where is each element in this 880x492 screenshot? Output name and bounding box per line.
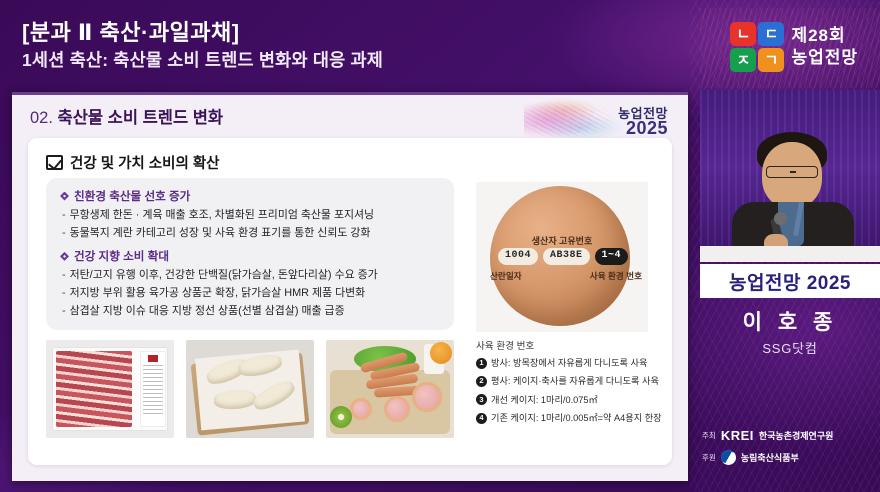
slide-canvas: 02. 축산물 소비 트렌드 변화 농업전망 2025 건강 및 가치 소비의 … xyxy=(12,92,688,481)
egg-code-pills: 1004 AB38E 1~4 xyxy=(488,248,638,265)
egg-producer-code-label: 생산자 고유번호 xyxy=(476,234,648,247)
dash-marker: - xyxy=(62,287,66,299)
session-track-title: [분과 Ⅱ 축산·과일과채] xyxy=(22,20,662,46)
glasses-icon xyxy=(766,166,818,178)
bullet-group: 건강 지향 소비 확대 -저탄/고지 유행 이후, 건강한 단백질(닭가슴살, … xyxy=(60,248,442,320)
bullet-group: 친환경 축산물 선호 증가 -무항생제 한돈 · 계육 매출 호조, 차별화된 … xyxy=(60,188,442,242)
slide-content-card: 건강 및 가치 소비의 확산 친환경 축산물 선호 증가 -무항생제 한돈 · … xyxy=(28,138,672,465)
host-tag: 주최 xyxy=(702,430,716,441)
egg-pill-housing-code: 1~4 xyxy=(595,248,629,265)
slide-top-rule xyxy=(12,92,688,95)
sponsor-footer: 주최 KREI 한국농촌경제연구원 후원 농림축산식품부 xyxy=(702,428,878,472)
slide-number: 02. xyxy=(30,109,53,127)
slide-title-text: 축산물 소비 트렌드 변화 xyxy=(58,109,224,127)
microphone-icon xyxy=(774,212,787,225)
egg-pill-lay-date: 1004 xyxy=(498,248,538,265)
presentation-screen: [분과 Ⅱ 축산·과일과채] 1세션 축산: 축산물 소비 트렌드 변화와 대응… xyxy=(0,0,880,492)
egg-marking-figure: 생산자 고유번호 1004 AB38E 1~4 산란일자 사육 환경 번호 사육… xyxy=(468,178,656,450)
bullet-item: -동물복지 계란 카테고리 성장 및 사육 환경 표기를 통한 신뢰도 강화 xyxy=(60,225,442,243)
speaker-organization: SSG닷컴 xyxy=(700,338,880,357)
egg-lay-date-label: 산란일자 xyxy=(490,270,522,282)
event-banner: 농업전망 2025 xyxy=(700,264,880,298)
event-name-label: 농업전망 xyxy=(791,48,858,68)
bullet-item: -저탄/고지 유행 이후, 건강한 단백질(닭가슴살, 돈앞다리살) 수요 증가 xyxy=(60,267,442,285)
bullet-group-title-text: 건강 지향 소비 확대 xyxy=(74,248,169,264)
logo-square-1: ㄴ xyxy=(730,22,756,46)
legend-number-badge: 2 xyxy=(476,376,487,387)
photo-sausage-ham-platter xyxy=(326,340,454,438)
ham-slice xyxy=(384,396,410,422)
logo-square-4: ㄱ xyxy=(758,48,784,72)
supporter-tag: 후원 xyxy=(702,452,716,463)
bullet-item-text: 무항생제 한돈 · 계육 매출 호조, 차별화된 프리미엄 축산물 포지셔닝 xyxy=(70,209,374,221)
host-name: 한국농촌경제연구원 xyxy=(759,429,834,442)
dash-marker: - xyxy=(62,209,66,221)
housing-code-legend: 사육 환경 번호 1 방사: 방목장에서 자유롭게 다니도록 사육 2 평사: … xyxy=(476,338,656,431)
diamond-bullet-icon xyxy=(60,192,69,201)
pork-product-label xyxy=(140,351,166,427)
legend-item: 1 방사: 방목장에서 자유롭게 다니도록 사육 xyxy=(476,357,656,369)
bullet-item: -무항생제 한돈 · 계육 매출 호조, 차별화된 프리미엄 축산물 포지셔닝 xyxy=(60,207,442,225)
legend-number-badge: 4 xyxy=(476,413,487,424)
egg-housing-label: 사육 환경 번호 xyxy=(590,270,642,282)
legend-item-text: 개선 케이지: 1마리/0.075㎡ xyxy=(491,394,598,406)
card-heading: 건강 및 가치 소비의 확산 xyxy=(46,152,220,173)
diamond-bullet-icon xyxy=(60,252,69,261)
photo-pork-belly-package xyxy=(46,340,174,438)
pork-meat xyxy=(56,351,132,427)
egg-image: 생산자 고유번호 1004 AB38E 1~4 산란일자 사육 환경 번호 xyxy=(476,182,648,332)
ham-slice xyxy=(350,398,372,420)
session-subtitle: 1세션 축산: 축산물 소비 트렌드 변화와 대응 과제 xyxy=(22,49,662,73)
event-logo-text: 제28회 농업전망 xyxy=(791,26,858,67)
legend-item: 2 평사: 케이지·축사를 자유롭게 다니도록 사육 xyxy=(476,375,656,387)
logo-square-2: ㄷ xyxy=(758,22,784,46)
supporter-row: 후원 농림축산식품부 xyxy=(702,450,878,465)
legend-item: 4 기존 케이지: 1마리/0.005㎡=약 A4용지 한장 xyxy=(476,412,656,424)
taegeuk-icon xyxy=(721,450,736,465)
legend-number-badge: 3 xyxy=(476,394,487,405)
krei-logo: KREI xyxy=(721,428,754,443)
event-banner-text: 농업전망 2025 xyxy=(729,268,851,295)
bullet-item-text: 동물복지 계란 카테고리 성장 및 사육 환경 표기를 통한 신뢰도 강화 xyxy=(70,227,371,239)
legend-title: 사육 환경 번호 xyxy=(476,338,656,352)
supporter-name: 농림축산식품부 xyxy=(741,451,799,464)
session-header: [분과 Ⅱ 축산·과일과채] 1세션 축산: 축산물 소비 트렌드 변화와 대응… xyxy=(22,20,662,73)
legend-item-text: 평사: 케이지·축사를 자유롭게 다니도록 사육 xyxy=(491,375,659,387)
bullet-group-title-text: 친환경 축산물 선호 증가 xyxy=(74,188,190,204)
legend-item: 3 개선 케이지: 1마리/0.075㎡ xyxy=(476,394,656,406)
kiwi-slice xyxy=(330,406,352,428)
slide-title: 02. 축산물 소비 트렌드 변화 xyxy=(30,104,223,128)
bullet-item: -삼겹살 지방 이슈 대응 지방 정선 상품(선별 삼겹살) 매출 급증 xyxy=(60,303,442,321)
dash-marker: - xyxy=(62,227,66,239)
card-heading-label: 건강 및 가치 소비의 확산 xyxy=(70,152,220,173)
ham-slice xyxy=(412,382,442,412)
legend-number-badge: 1 xyxy=(476,358,487,369)
speaker-name: 이 호 종 xyxy=(700,306,880,336)
bullet-group-title: 건강 지향 소비 확대 xyxy=(60,248,442,264)
bullet-item-text: 저지방 부위 활용 육가공 상품군 확장, 닭가슴살 HMR 제품 다변화 xyxy=(70,287,366,299)
egg-pill-producer-code: AB38E xyxy=(543,248,590,265)
bullet-item: -저지방 부위 활용 육가공 상품군 확장, 닭가슴살 HMR 제품 다변화 xyxy=(60,285,442,303)
checkbox-icon xyxy=(46,155,63,170)
bullet-item-text: 삼겹살 지방 이슈 대응 지방 정선 상품(선별 삼겹살) 매출 급증 xyxy=(70,305,345,317)
event-logo: ㄴ ㄷ ㅈ ㄱ 제28회 농업전망 xyxy=(730,22,858,72)
logo-square-3: ㅈ xyxy=(730,48,756,72)
legend-item-text: 방사: 방목장에서 자유롭게 다니도록 사육 xyxy=(491,357,647,369)
speaker-video-feed[interactable] xyxy=(700,90,880,262)
bullet-panel: 친환경 축산물 선호 증가 -무항생제 한돈 · 계육 매출 호조, 차별화된 … xyxy=(46,178,454,330)
egg-sublabels: 산란일자 사육 환경 번호 xyxy=(490,270,642,282)
event-logo-mark: ㄴ ㄷ ㅈ ㄱ xyxy=(730,22,784,72)
event-edition-label: 제28회 xyxy=(791,26,858,46)
photo-chicken-breast xyxy=(186,340,314,438)
dash-marker: - xyxy=(62,269,66,281)
product-photo-strip xyxy=(46,340,454,438)
podium xyxy=(700,246,880,262)
bullet-group-title: 친환경 축산물 선호 증가 xyxy=(60,188,442,204)
dash-marker: - xyxy=(62,305,66,317)
orange-fruit xyxy=(430,342,452,364)
legend-item-text: 기존 케이지: 1마리/0.005㎡=약 A4용지 한장 xyxy=(491,412,662,424)
slide-logo-year: 2025 xyxy=(626,118,668,139)
host-row: 주최 KREI 한국농촌경제연구원 xyxy=(702,428,878,443)
bullet-item-text: 저탄/고지 유행 이후, 건강한 단백질(닭가슴살, 돈앞다리살) 수요 증가 xyxy=(70,269,378,281)
